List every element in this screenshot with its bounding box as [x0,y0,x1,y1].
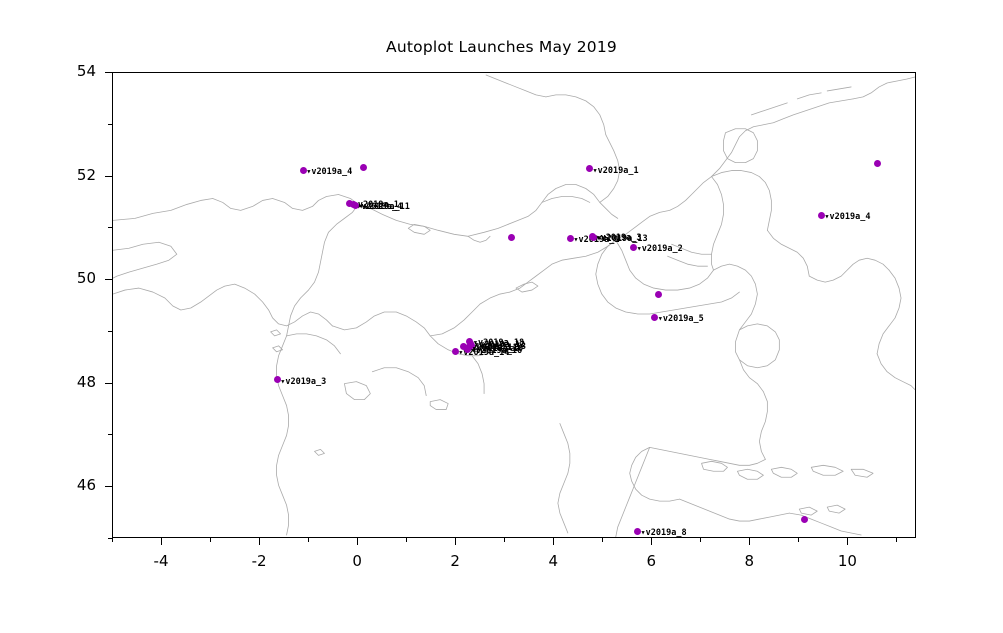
y-axis-minor-tick [108,124,112,125]
data-point-label: ▾v2019a_3 [280,378,326,387]
x-axis-tick [161,538,162,545]
y-axis-minor-tick [108,227,112,228]
data-point-marker[interactable] [508,234,515,241]
x-axis-tick [847,538,848,545]
x-axis-minor-tick [210,538,211,542]
x-axis-tick-label: -2 [239,552,279,570]
data-point-label: ▾v2019a_4 [824,213,870,222]
x-axis-tick-label: 0 [337,552,377,570]
data-point-label: ▾v2019a_8 [641,529,687,538]
y-axis-tick [105,486,112,487]
x-axis-tick [259,538,260,545]
y-axis-tick [105,383,112,384]
x-axis-tick-label: -4 [141,552,181,570]
x-axis-tick [455,538,456,545]
data-point-label: ▾v2019a_16 [471,347,522,356]
y-axis-tick-label: 46 [50,476,96,494]
data-point-marker[interactable] [801,516,808,523]
x-axis-tick-label: 4 [533,552,573,570]
data-point-label: ▾v2019a_13 [596,235,647,244]
x-axis-tick [749,538,750,545]
data-point-label: ▾v2019a_4 [306,168,352,177]
x-axis-tick-label: 10 [827,552,867,570]
x-axis-minor-tick [700,538,701,542]
y-axis-tick [105,72,112,73]
x-axis-minor-tick [602,538,603,542]
page-title: Autoplot Launches May 2019 [0,38,1003,56]
map-axes[interactable]: ▾v2019a_4▾v2019a_1▾v2019a_4▾v2019a_11▾v2… [112,72,916,538]
data-point-label: ▾v2019a_5 [658,315,704,324]
x-axis-tick [651,538,652,545]
y-axis-minor-tick [108,331,112,332]
data-point-label: ▾v2019a_11 [359,203,410,212]
x-axis-minor-tick [896,538,897,542]
data-point-marker[interactable] [360,164,367,171]
data-point-label: ▾v2019a_1 [593,167,639,176]
data-point-marker[interactable] [655,291,662,298]
x-axis-tick-label: 8 [729,552,769,570]
x-axis-tick [553,538,554,545]
y-axis-tick [105,279,112,280]
y-axis-minor-tick [108,434,112,435]
x-axis-minor-tick [504,538,505,542]
y-axis-tick-label: 48 [50,373,96,391]
y-axis-tick-label: 50 [50,269,96,287]
y-axis-tick-label: 54 [50,62,96,80]
x-axis-tick-label: 6 [631,552,671,570]
figure-canvas: Autoplot Launches May 2019 [0,0,1003,633]
x-axis-tick [357,538,358,545]
x-axis-minor-tick [406,538,407,542]
coastline-map [113,73,915,537]
x-axis-tick-label: 2 [435,552,475,570]
x-axis-minor-tick [308,538,309,542]
x-axis-minor-tick [798,538,799,542]
y-axis-tick-label: 52 [50,166,96,184]
x-axis-minor-tick [112,538,113,542]
data-point-label: ▾v2019a_2 [637,245,683,254]
y-axis-tick [105,176,112,177]
